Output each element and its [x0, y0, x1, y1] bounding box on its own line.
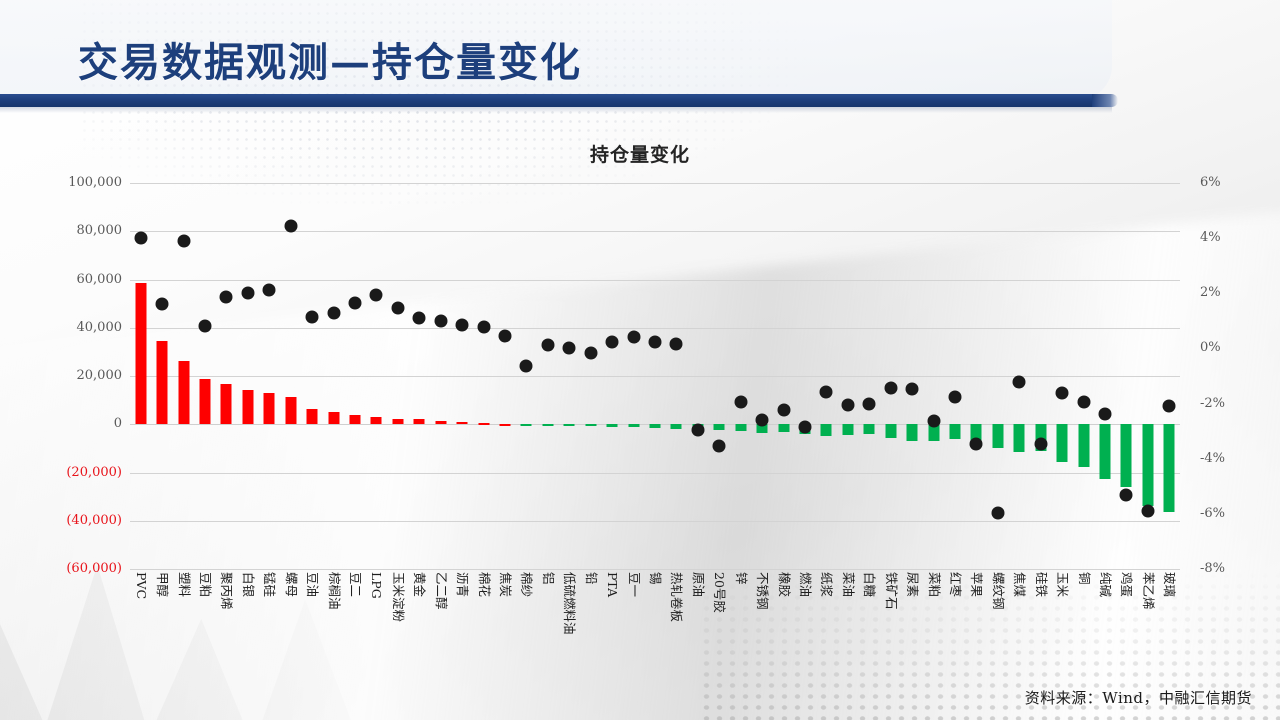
marker-豆粕 [199, 320, 212, 333]
right-axis-tick: -2% [1200, 397, 1225, 410]
category-label-原油: 原油 [691, 572, 704, 597]
category-label-苹果: 苹果 [970, 572, 983, 597]
bar-玉米 [1057, 424, 1068, 462]
right-axis-tick: 4% [1200, 231, 1221, 244]
bar-铅 [585, 424, 596, 426]
marker-苯乙烯 [1141, 505, 1154, 518]
category-label-棕榈油: 棕榈油 [327, 572, 340, 610]
marker-PVC [134, 232, 147, 245]
left-value-axis: 100,00080,00060,00040,00020,0000(20,000)… [8, 183, 128, 569]
category-label-聚丙烯: 聚丙烯 [220, 572, 233, 610]
category-label-焦炭: 焦炭 [499, 572, 512, 597]
category-label-LPG: LPG [370, 572, 383, 599]
marker-焦炭 [499, 329, 512, 342]
category-label-螺母: 螺母 [284, 572, 297, 597]
right-axis-tick: -6% [1200, 507, 1225, 520]
gridline [130, 328, 1180, 329]
category-label-燃油: 燃油 [799, 572, 812, 597]
bar-黄金 [414, 419, 425, 424]
marker-乙二醇 [434, 315, 447, 328]
bar-焦煤 [1014, 424, 1025, 452]
marker-硅铁 [1034, 438, 1047, 451]
marker-豆二 [349, 296, 362, 309]
bar-棕榈油 [328, 412, 339, 425]
category-label-锡: 锡 [649, 572, 662, 585]
category-label-锌: 锌 [734, 572, 747, 585]
bar-锌 [735, 424, 746, 431]
slide-header: 交易数据观测—持仓量变化 [0, 0, 1280, 122]
bar-豆二 [350, 415, 361, 424]
page-title: 交易数据观测—持仓量变化 [78, 30, 582, 88]
category-label-橡胶: 橡胶 [777, 572, 790, 597]
marker-铅 [584, 347, 597, 360]
bar-纯碱 [1100, 424, 1111, 478]
category-label-豆一: 豆一 [627, 572, 640, 597]
left-axis-tick: 100,000 [68, 176, 122, 189]
marker-纯碱 [1099, 408, 1112, 421]
bar-鸡蛋 [1121, 424, 1132, 486]
marker-白银 [241, 287, 254, 300]
bar-苯乙烯 [1142, 424, 1153, 506]
category-label-玉米: 玉米 [1056, 572, 1069, 597]
category-label-白银: 白银 [241, 572, 254, 597]
marker-棉纱 [520, 360, 533, 373]
category-label-20号胶: 20号胶 [713, 572, 726, 613]
gridline [130, 183, 1180, 184]
left-axis-tick: 0 [114, 417, 122, 430]
category-label-焦煤: 焦煤 [1013, 572, 1026, 597]
marker-热轧卷板 [670, 338, 683, 351]
bar-螺纹钢 [992, 424, 1003, 448]
marker-黄金 [413, 311, 426, 324]
left-axis-tick: 80,000 [77, 224, 123, 237]
marker-苹果 [970, 437, 983, 450]
marker-20号胶 [713, 440, 726, 453]
marker-菜粕 [927, 414, 940, 427]
gridline [130, 473, 1180, 474]
left-axis-tick: (60,000) [66, 562, 122, 575]
category-label-苯乙烯: 苯乙烯 [1141, 572, 1154, 610]
marker-铁矿石 [884, 382, 897, 395]
category-label-纯碱: 纯碱 [1099, 572, 1112, 597]
marker-红枣 [949, 390, 962, 403]
marker-白糖 [863, 397, 876, 410]
marker-棕榈油 [327, 306, 340, 319]
marker-锌 [734, 396, 747, 409]
bar-铁矿石 [885, 424, 896, 438]
left-axis-tick: 60,000 [77, 273, 123, 286]
category-label-豆粕: 豆粕 [199, 572, 212, 597]
gridline [130, 280, 1180, 281]
category-label-菜油: 菜油 [841, 572, 854, 597]
bar-白糖 [864, 424, 875, 434]
category-label-甲醇: 甲醇 [156, 572, 169, 597]
category-label-黄金: 黄金 [413, 572, 426, 597]
category-label-铁矿石: 铁矿石 [884, 572, 897, 610]
bar-甲醇 [157, 341, 168, 424]
category-label-棉花: 棉花 [477, 572, 490, 597]
bar-菜油 [842, 424, 853, 435]
category-label-PVC: PVC [134, 572, 147, 599]
category-label-铝: 铝 [541, 572, 554, 585]
marker-低硫燃料油 [563, 341, 576, 354]
category-label-塑料: 塑料 [177, 572, 190, 597]
marker-塑料 [177, 234, 190, 247]
category-label-红枣: 红枣 [949, 572, 962, 597]
bar-锡 [650, 424, 661, 428]
marker-LPG [370, 288, 383, 301]
category-label-玻璃: 玻璃 [1163, 572, 1176, 597]
left-axis-tick: 20,000 [77, 369, 123, 382]
category-label-纸浆: 纸浆 [820, 572, 833, 597]
category-label-低硫燃料油: 低硫燃料油 [563, 572, 576, 635]
bar-豆油 [307, 409, 318, 424]
category-label-白糖: 白糖 [863, 572, 876, 597]
bar-PVC [135, 283, 146, 425]
left-axis-tick: (20,000) [66, 466, 122, 479]
bar-螺母 [285, 397, 296, 424]
category-label-铅: 铅 [584, 572, 597, 585]
right-axis-tick: -8% [1200, 562, 1225, 575]
marker-锰硅 [263, 283, 276, 296]
right-percent-axis: 6%4%2%0%-2%-4%-6%-8% [1190, 183, 1280, 569]
category-label-不锈钢: 不锈钢 [756, 572, 769, 610]
bar-铝 [542, 424, 553, 426]
category-label-棉纱: 棉纱 [520, 572, 533, 597]
slide-canvas: 交易数据观测—持仓量变化 持仓量变化 100,00080,00060,00040… [0, 0, 1280, 720]
bar-玉米淀粉 [392, 419, 403, 425]
right-axis-tick: 2% [1200, 286, 1221, 299]
marker-铜 [1077, 396, 1090, 409]
bar-玻璃 [1164, 424, 1175, 512]
bar-豆粕 [200, 379, 211, 425]
bar-热轧卷板 [671, 424, 682, 428]
category-label-菜粕: 菜粕 [927, 572, 940, 597]
bar-LPG [371, 417, 382, 424]
bar-20号胶 [714, 424, 725, 430]
gridline [130, 521, 1180, 522]
marker-沥青 [456, 318, 469, 331]
bar-焦炭 [500, 424, 511, 426]
category-axis: PVC甲醇塑料豆粕聚丙烯白银锰硅螺母豆油棕榈油豆二LPG玉米淀粉黄金乙二醇沥青棉… [130, 572, 1180, 712]
marker-原油 [691, 423, 704, 436]
bar-棉花 [478, 423, 489, 425]
bar-聚丙烯 [221, 384, 232, 424]
bar-棉纱 [521, 424, 532, 426]
bar-纸浆 [821, 424, 832, 436]
bar-橡胶 [778, 424, 789, 431]
marker-焦煤 [1013, 375, 1026, 388]
category-label-乙二醇: 乙二醇 [434, 572, 447, 610]
marker-豆油 [306, 311, 319, 324]
category-label-尿素: 尿素 [906, 572, 919, 597]
marker-PTA [606, 335, 619, 348]
bar-塑料 [178, 361, 189, 425]
category-label-热轧卷板: 热轧卷板 [670, 572, 683, 622]
header-accent-band [0, 94, 1106, 107]
marker-玉米淀粉 [391, 302, 404, 315]
marker-玉米 [1056, 386, 1069, 399]
marker-尿素 [906, 383, 919, 396]
marker-燃油 [799, 421, 812, 434]
header-band-tail [1092, 94, 1118, 107]
marker-玻璃 [1163, 399, 1176, 412]
bar-豆一 [628, 424, 639, 427]
marker-菜油 [841, 398, 854, 411]
category-label-沥青: 沥青 [456, 572, 469, 597]
marker-螺母 [284, 219, 297, 232]
bar-铜 [1078, 424, 1089, 466]
marker-棉花 [477, 320, 490, 333]
source-note: 资料来源：Wind，中融汇信期货 [1025, 687, 1252, 708]
category-label-豆油: 豆油 [306, 572, 319, 597]
bar-乙二醇 [435, 421, 446, 425]
marker-聚丙烯 [220, 291, 233, 304]
marker-不锈钢 [756, 413, 769, 426]
bar-红枣 [950, 424, 961, 439]
category-label-PTA: PTA [606, 572, 619, 597]
right-axis-tick: -4% [1200, 452, 1225, 465]
marker-豆一 [627, 331, 640, 344]
marker-纸浆 [820, 385, 833, 398]
category-label-螺纹钢: 螺纹钢 [991, 572, 1004, 610]
marker-橡胶 [777, 403, 790, 416]
category-label-鸡蛋: 鸡蛋 [1120, 572, 1133, 597]
marker-锡 [649, 336, 662, 349]
bar-低硫燃料油 [564, 424, 575, 426]
category-label-铜: 铜 [1077, 572, 1090, 585]
header-band-shadow [0, 107, 1112, 113]
marker-铝 [541, 339, 554, 352]
gridline [130, 569, 1180, 570]
category-label-硅铁: 硅铁 [1034, 572, 1047, 597]
bar-锰硅 [264, 393, 275, 424]
marker-甲醇 [156, 298, 169, 311]
right-axis-tick: 6% [1200, 176, 1221, 189]
bar-尿素 [907, 424, 918, 441]
category-label-豆二: 豆二 [349, 572, 362, 597]
chart-title: 持仓量变化 [0, 140, 1280, 167]
right-axis-tick: 0% [1200, 341, 1221, 354]
marker-螺纹钢 [991, 507, 1004, 520]
category-label-玉米淀粉: 玉米淀粉 [391, 572, 404, 622]
bar-PTA [607, 424, 618, 427]
left-axis-tick: 40,000 [77, 321, 123, 334]
marker-鸡蛋 [1120, 488, 1133, 501]
bar-沥青 [457, 422, 468, 425]
bar-白银 [242, 390, 253, 425]
category-label-锰硅: 锰硅 [263, 572, 276, 597]
chart-plot-area [130, 183, 1180, 569]
left-axis-tick: (40,000) [66, 514, 122, 527]
